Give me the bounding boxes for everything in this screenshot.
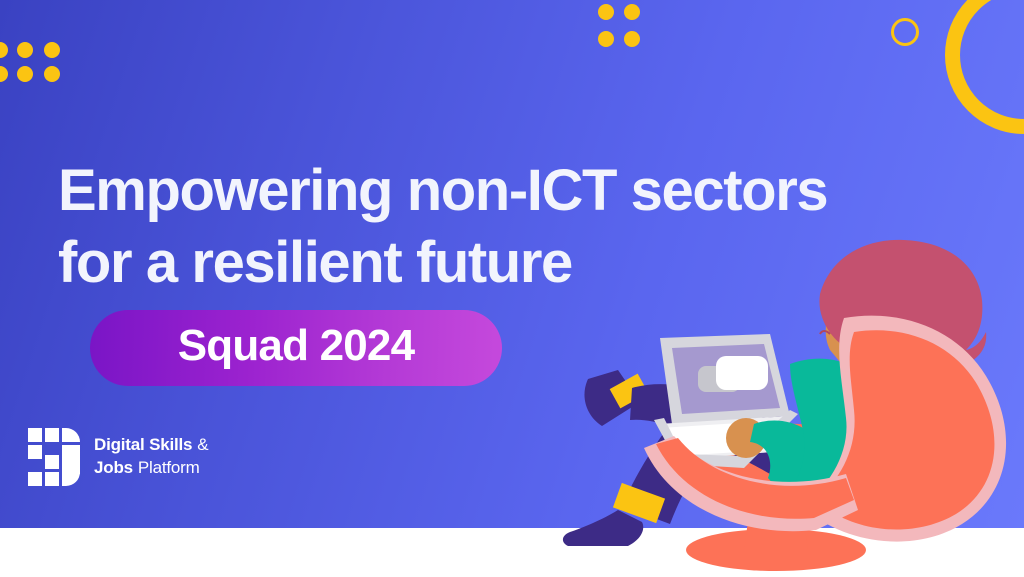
logo-line1-light: &	[197, 435, 208, 454]
squad-badge: Squad 2024	[90, 310, 502, 386]
logo-line2-bold: Jobs	[94, 458, 133, 477]
logo-line2-light: Platform	[138, 458, 200, 477]
logo-wordmark-line2: JobsPlatform	[94, 457, 208, 480]
logo-wordmark-line1: Digital Skills&	[94, 434, 208, 457]
small-yellow-ring-icon	[891, 18, 919, 46]
squad-badge-label: Squad 2024	[178, 324, 415, 372]
promo-banner: Empowering non-ICT sectors for a resilie…	[0, 0, 1024, 577]
person-with-laptop-illustration	[558, 238, 1024, 577]
logo-line1-bold: Digital Skills	[94, 435, 192, 454]
dsjp-monogram-icon	[28, 428, 80, 486]
top-center-dot-grid-icon	[0, 0, 700, 70]
logo[interactable]: Digital Skills& JobsPlatform	[28, 428, 208, 486]
logo-wordmark: Digital Skills& JobsPlatform	[94, 434, 208, 479]
